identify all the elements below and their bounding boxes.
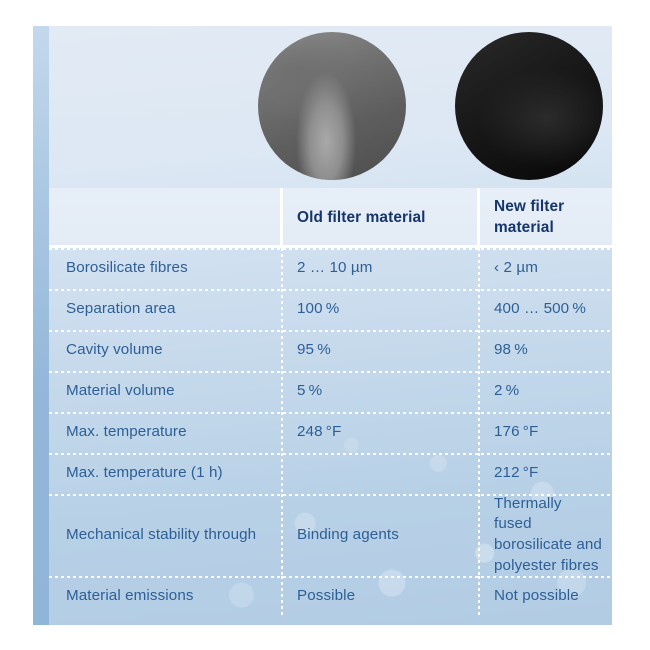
column-divider-2 — [478, 248, 480, 289]
row-separator — [49, 371, 612, 373]
row-property: Max. temperature (1 h) — [49, 453, 280, 494]
row-property: Max. temperature — [49, 412, 280, 453]
row-new-value: 2 % — [477, 371, 612, 412]
table-header-row: Old filter material New filter material — [49, 188, 612, 248]
column-divider-2 — [478, 330, 480, 371]
row-property: Borosilicate fibres — [49, 248, 280, 289]
column-divider-2 — [478, 289, 480, 330]
row-old-value: Binding agents — [280, 494, 477, 576]
row-property: Material volume — [49, 371, 280, 412]
header-divider-2 — [477, 188, 480, 248]
row-separator — [49, 330, 612, 332]
row-property: Separation area — [49, 289, 280, 330]
comparison-table: Old filter material New filter material … — [49, 188, 612, 617]
old-filter-material-image — [258, 32, 406, 180]
table-row: Max. temperature (1 h) 212 °F — [49, 453, 612, 494]
header-property — [49, 188, 280, 248]
column-divider-1 — [281, 412, 283, 453]
table-row: Separation area 100 % 400 … 500 % — [49, 289, 612, 330]
column-divider-2 — [478, 453, 480, 494]
comparison-panel: Old filter material New filter material … — [33, 26, 612, 625]
row-old-value: 5 % — [280, 371, 477, 412]
header-divider-1 — [280, 188, 283, 248]
sem-images-row — [49, 26, 612, 188]
column-divider-1 — [281, 330, 283, 371]
column-divider-2 — [478, 494, 480, 576]
row-new-value: 212 °F — [477, 453, 612, 494]
row-old-value: 95 % — [280, 330, 477, 371]
header-old-filter-material: Old filter material — [280, 188, 477, 248]
row-separator — [49, 412, 612, 414]
row-new-value: 400 … 500 % — [477, 289, 612, 330]
column-divider-1 — [281, 371, 283, 412]
row-property: Cavity volume — [49, 330, 280, 371]
row-new-value: Not possible — [477, 576, 612, 617]
sem-micrograph-coarse-fibres — [258, 32, 406, 180]
row-old-value — [280, 453, 477, 494]
table-row: Material emissions Possible Not possible — [49, 576, 612, 617]
row-new-value: 98 % — [477, 330, 612, 371]
table-row: Max. temperature 248 °F 176 °F — [49, 412, 612, 453]
new-filter-material-image — [455, 32, 603, 180]
row-new-value: 176 °F — [477, 412, 612, 453]
column-divider-1 — [281, 289, 283, 330]
left-accent-band — [33, 26, 49, 625]
column-divider-1 — [281, 453, 283, 494]
column-divider-2 — [478, 371, 480, 412]
table-row: Mechanical stability through Binding age… — [49, 494, 612, 576]
column-divider-2 — [478, 412, 480, 453]
row-new-value: ‹ 2 µm — [477, 248, 612, 289]
table-row: Borosilicate fibres 2 … 10 µm ‹ 2 µm — [49, 248, 612, 289]
row-separator — [49, 289, 612, 291]
row-separator — [49, 576, 612, 578]
column-divider-1 — [281, 248, 283, 289]
page-root: Old filter material New filter material … — [0, 0, 650, 650]
table-row: Cavity volume 95 % 98 % — [49, 330, 612, 371]
row-property: Mechanical stability through — [49, 494, 280, 576]
row-separator — [49, 248, 612, 250]
row-old-value: 248 °F — [280, 412, 477, 453]
column-divider-1 — [281, 576, 283, 617]
sem-micrograph-fine-fibres — [455, 32, 603, 180]
row-property: Material emissions — [49, 576, 280, 617]
column-divider-1 — [281, 494, 283, 576]
row-old-value: Possible — [280, 576, 477, 617]
table-row: Material volume 5 % 2 % — [49, 371, 612, 412]
column-divider-2 — [478, 576, 480, 617]
row-separator — [49, 494, 612, 496]
row-new-value: Thermally fused borosilicate and polyest… — [477, 494, 612, 576]
row-old-value: 2 … 10 µm — [280, 248, 477, 289]
panel-content: Old filter material New filter material … — [49, 26, 612, 625]
row-old-value: 100 % — [280, 289, 477, 330]
row-separator — [49, 453, 612, 455]
header-new-filter-material: New filter material — [477, 188, 612, 248]
